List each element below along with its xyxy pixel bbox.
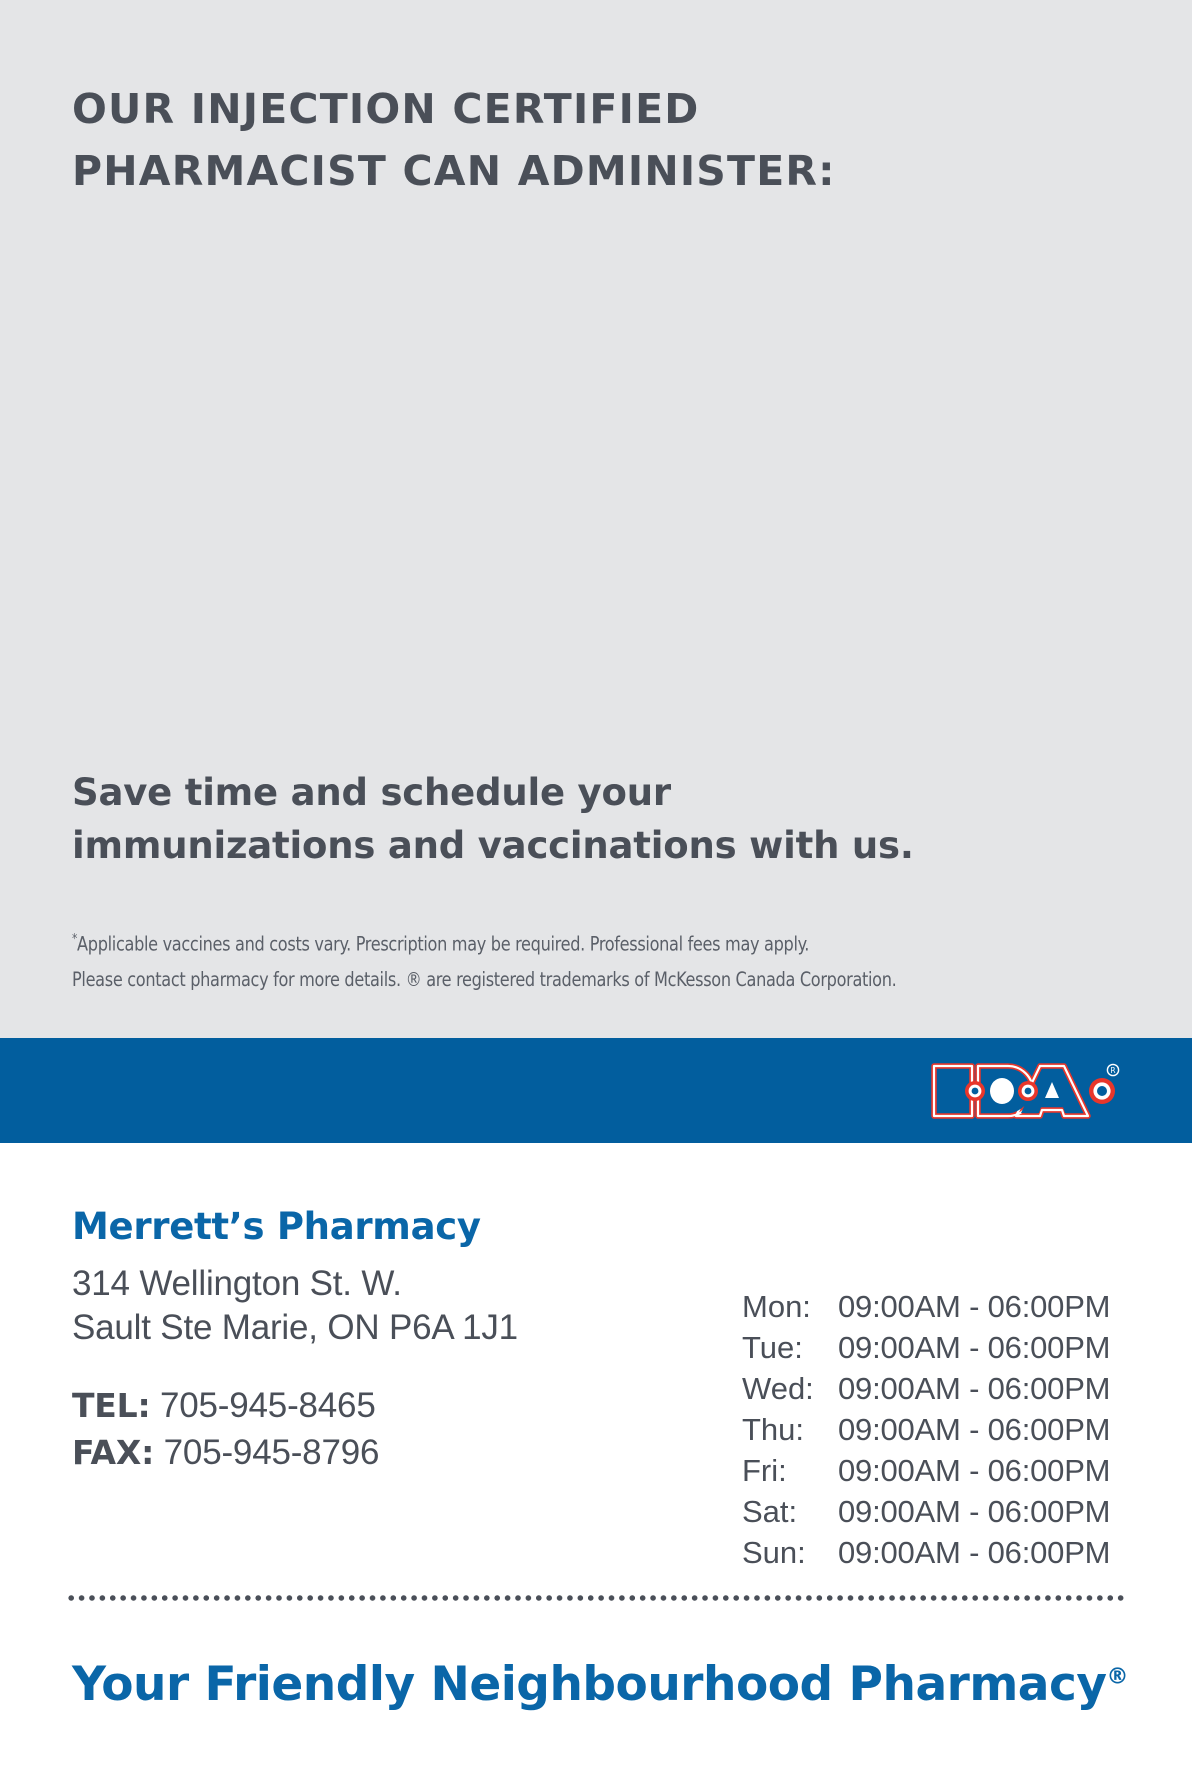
- hours-time-value: 09:00AM - 06:00PM: [838, 1494, 1110, 1530]
- disclaimer: *Applicable vaccines and costs vary. Pre…: [72, 922, 1038, 997]
- hours-time-value: 09:00AM - 06:00PM: [838, 1289, 1110, 1325]
- hours-row: Fri: 09:00AM - 06:00PM: [742, 1453, 1110, 1494]
- subheading-line-1: Save time and schedule your: [72, 766, 1032, 819]
- hours-time-value: 09:00AM - 06:00PM: [838, 1453, 1110, 1489]
- dotted-divider: [66, 1594, 1126, 1602]
- store-hours: Mon: 09:00AM - 06:00PM Tue: 09:00AM - 06…: [742, 1289, 1110, 1576]
- store-fax-row: FAX: 705-945-8796: [72, 1429, 379, 1476]
- store-contact: TEL: 705-945-8465 FAX: 705-945-8796: [72, 1382, 379, 1476]
- subheading-line-2: immunizations and vaccinations with us.: [72, 819, 1032, 872]
- hours-row: Thu: 09:00AM - 06:00PM: [742, 1412, 1110, 1453]
- hours-row: Sat: 09:00AM - 06:00PM: [742, 1494, 1110, 1535]
- hours-time-value: 09:00AM - 06:00PM: [838, 1535, 1110, 1571]
- tagline-text: Your Friendly Neighbourhood Pharmacy: [72, 1657, 1107, 1712]
- hours-row: Sun: 09:00AM - 06:00PM: [742, 1535, 1110, 1576]
- store-address: 314 Wellington St. W. Sault Ste Marie, O…: [72, 1262, 518, 1350]
- hours-time-value: 09:00AM - 06:00PM: [838, 1330, 1110, 1366]
- registered-trademark-icon: ®: [1107, 1664, 1129, 1689]
- page-title: OUR INJECTION CERTIFIED PHARMACIST CAN A…: [72, 78, 1012, 202]
- subheading: Save time and schedule your immunization…: [72, 766, 1032, 872]
- store-phone-row: TEL: 705-945-8465: [72, 1382, 379, 1429]
- disclaimer-line-1-text: Applicable vaccines and costs vary. Pres…: [77, 933, 809, 956]
- hours-row: Mon: 09:00AM - 06:00PM: [742, 1289, 1110, 1330]
- hours-day-label: Thu:: [742, 1412, 838, 1448]
- store-address-line-1: 314 Wellington St. W.: [72, 1262, 518, 1306]
- hours-day-label: Sat:: [742, 1494, 838, 1530]
- store-name: Merrett’s Pharmacy: [72, 1205, 481, 1248]
- store-address-line-2: Sault Ste Marie, ON P6A 1J1: [72, 1306, 518, 1350]
- store-fax-label: FAX:: [72, 1433, 154, 1472]
- store-fax-value: 705-945-8796: [164, 1433, 380, 1472]
- hours-day-label: Tue:: [742, 1330, 838, 1366]
- tagline: Your Friendly Neighbourhood Pharmacy®: [72, 1657, 1128, 1712]
- page-title-line-2: PHARMACIST CAN ADMINISTER:: [72, 140, 1012, 202]
- flyer-page: OUR INJECTION CERTIFIED PHARMACIST CAN A…: [0, 0, 1192, 1785]
- store-phone-value[interactable]: 705-945-8465: [160, 1386, 376, 1425]
- brand-band: R: [0, 1038, 1192, 1143]
- hours-day-label: Sun:: [742, 1535, 838, 1571]
- hours-day-label: Mon:: [742, 1289, 838, 1325]
- hours-day-label: Fri:: [742, 1453, 838, 1489]
- hours-time-value: 09:00AM - 06:00PM: [838, 1412, 1110, 1448]
- store-phone-label: TEL:: [72, 1386, 150, 1425]
- hours-row: Tue: 09:00AM - 06:00PM: [742, 1330, 1110, 1371]
- disclaimer-line-2: Please contact pharmacy for more details…: [72, 962, 1038, 997]
- ida-logo: R: [928, 1054, 1128, 1128]
- hero-panel: OUR INJECTION CERTIFIED PHARMACIST CAN A…: [0, 0, 1192, 1038]
- hours-day-label: Wed:: [742, 1371, 838, 1407]
- page-title-line-1: OUR INJECTION CERTIFIED: [72, 78, 1012, 140]
- svg-text:R: R: [1110, 1066, 1115, 1075]
- disclaimer-line-1: *Applicable vaccines and costs vary. Pre…: [72, 922, 1038, 962]
- hours-row: Wed: 09:00AM - 06:00PM: [742, 1371, 1110, 1412]
- hours-time-value: 09:00AM - 06:00PM: [838, 1371, 1110, 1407]
